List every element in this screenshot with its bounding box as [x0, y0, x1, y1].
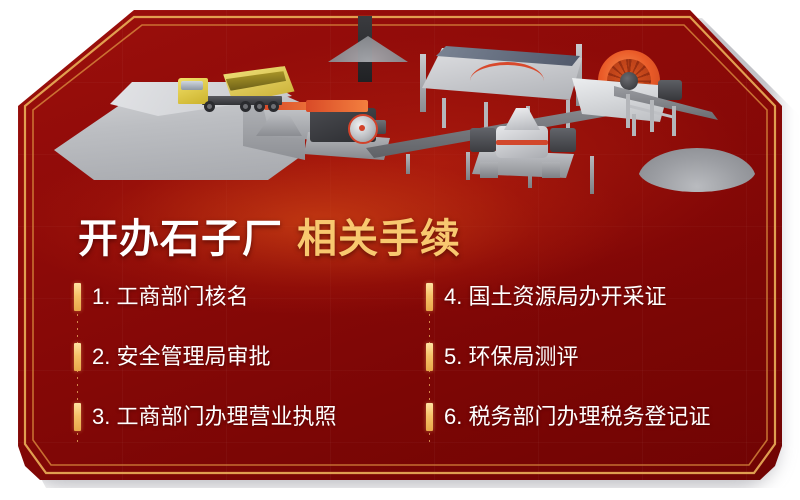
truck-wheel-icon [268, 101, 279, 112]
list-bullet-bar-icon [74, 403, 81, 431]
production-line-illustration [18, 10, 782, 210]
truck-wheel-icon [204, 101, 215, 112]
cone-crusher-side-icon [550, 128, 576, 152]
title-part-accent: 相关手续 [297, 217, 461, 261]
list-item[interactable]: 1. 工商部门核名 [74, 282, 248, 312]
chute-stone-pile-icon [328, 36, 408, 62]
title-part-primary: 开办石子厂 [78, 217, 283, 261]
conveyor-leg-icon [406, 154, 410, 174]
discharge-leg-icon [632, 114, 636, 136]
discharge-leg-icon [672, 106, 676, 136]
list-bullet-bar-icon [426, 283, 433, 311]
list-item-label: 3. 工商部门办理营业执照 [92, 403, 336, 431]
truck-wheel-icon [254, 101, 265, 112]
list-item[interactable]: 5. 环保局测评 [426, 342, 578, 372]
list-item-label: 4. 国土资源局办开采证 [444, 283, 666, 311]
list-bullet-bar-icon [426, 343, 433, 371]
list-bullet-bar-icon [74, 343, 81, 371]
procedure-column-right: 4. 国土资源局办开采证 5. 环保局测评 6. 税务部门办理税务登记证 [426, 272, 776, 458]
list-item-label: 1. 工商部门核名 [92, 283, 248, 311]
gravel-pile-icon [638, 148, 756, 192]
cone-crusher-ring-icon [496, 140, 548, 145]
truck-wheel-icon [240, 101, 251, 112]
truck-window-icon [181, 81, 203, 90]
list-item-label: 6. 税务部门办理税务登记证 [444, 403, 710, 431]
discharge-leg-icon [626, 94, 630, 128]
discharge-conveyor-icon [614, 86, 718, 128]
conveyor-leg-icon [590, 156, 594, 194]
cone-crusher-cone-icon [504, 108, 540, 130]
cone-crusher-foot-icon [480, 162, 498, 178]
procedure-list: 1. 工商部门核名 2. 安全管理局审批 3. 工商部门办理营业执照 4. 国土… [74, 272, 774, 458]
list-item-label: 2. 安全管理局审批 [92, 343, 270, 371]
cone-crusher-side-icon [470, 128, 496, 152]
page-title: 开办石子厂相关手续 [78, 206, 461, 264]
cone-crusher-icon [468, 106, 578, 178]
list-bullet-bar-icon [426, 403, 433, 431]
discharge-leg-icon [650, 100, 654, 132]
list-item-label: 5. 环保局测评 [444, 343, 578, 371]
poster-root: 开办石子厂相关手续 1. 工商部门核名 2. 安全管理局审批 3. 工商部门办理… [0, 0, 800, 500]
cone-crusher-foot-icon [542, 162, 560, 178]
list-item[interactable]: 3. 工商部门办理营业执照 [74, 402, 336, 432]
list-item[interactable]: 4. 国土资源局办开采证 [426, 282, 666, 312]
list-bullet-bar-icon [74, 283, 81, 311]
red-panel: 开办石子厂相关手续 1. 工商部门核名 2. 安全管理局审批 3. 工商部门办理… [18, 10, 782, 486]
list-item[interactable]: 2. 安全管理局审批 [74, 342, 270, 372]
jaw-crusher-hopper-icon [306, 100, 368, 112]
procedure-column-left: 1. 工商部门核名 2. 安全管理局审批 3. 工商部门办理营业执照 [74, 272, 424, 458]
dump-truck-icon [178, 68, 296, 114]
list-item[interactable]: 6. 税务部门办理税务登记证 [426, 402, 710, 432]
